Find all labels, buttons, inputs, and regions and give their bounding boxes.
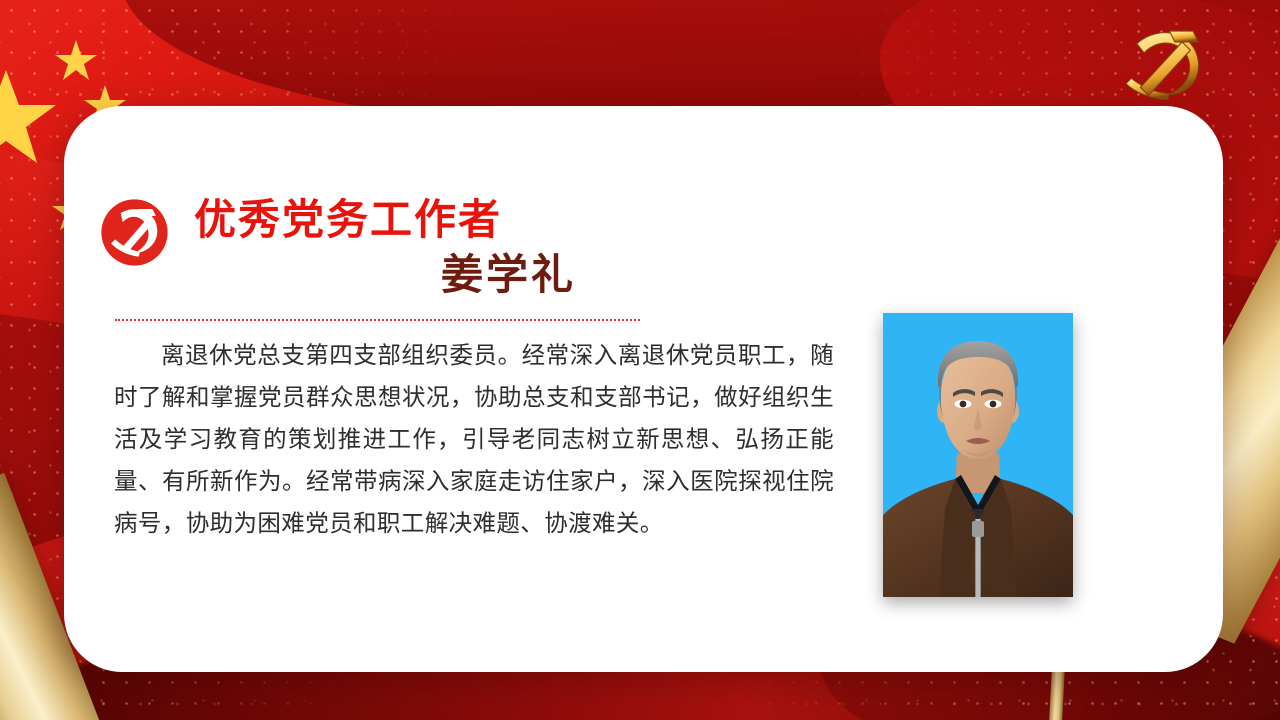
person-name: 姜学礼 xyxy=(194,250,714,300)
hammer-and-sickle-emblem-icon xyxy=(1118,22,1210,100)
page-title: 优秀党务工作者 xyxy=(194,194,714,246)
slide-root: 优秀党务工作者 姜学礼 离退休党总支第四支部组织委员。经常深入离退休党员职工，随… xyxy=(0,0,1280,720)
title-block: 优秀党务工作者 姜学礼 xyxy=(194,194,714,300)
portrait-illustration xyxy=(883,313,1073,597)
party-emblem-icon xyxy=(100,198,169,267)
biography-text: 离退休党总支第四支部组织委员。经常深入离退休党员职工，随时了解和掌握党员群众思想… xyxy=(114,334,834,544)
dotted-divider xyxy=(115,319,640,321)
portrait-photo xyxy=(883,313,1073,597)
content-card: 优秀党务工作者 姜学礼 离退休党总支第四支部组织委员。经常深入离退休党员职工，随… xyxy=(64,106,1223,672)
